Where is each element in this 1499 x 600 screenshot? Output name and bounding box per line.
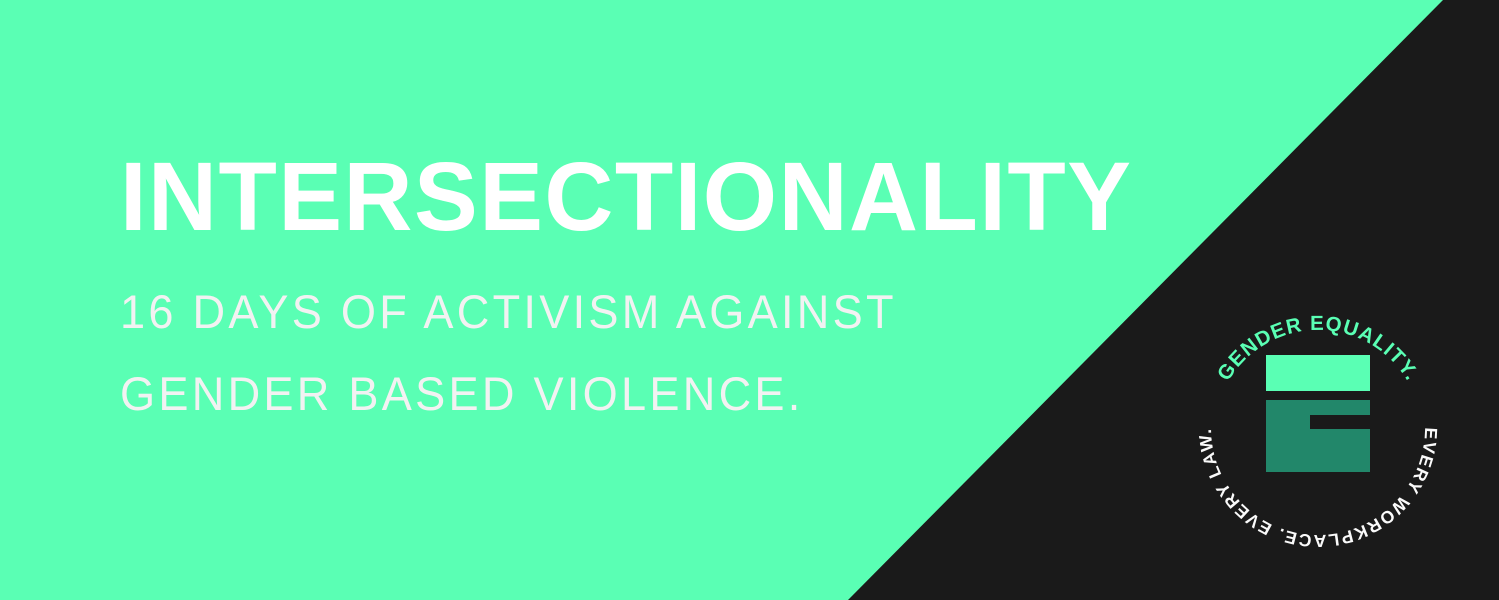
emblem-lower-block-icon: [1266, 400, 1370, 472]
banner-text-block: INTERSECTIONALITY 16 DAYS OF ACTIVISM AG…: [120, 148, 1180, 435]
subtitle-line-1: 16 DAYS OF ACTIVISM AGAINST: [120, 271, 1138, 353]
campaign-banner: INTERSECTIONALITY 16 DAYS OF ACTIVISM AG…: [0, 0, 1499, 600]
subtitle-line-2: GENDER BASED VIOLENCE.: [120, 353, 1138, 435]
subtitle-group: 16 DAYS OF ACTIVISM AGAINST GENDER BASED…: [120, 271, 1180, 435]
page-title: INTERSECTIONALITY: [120, 148, 1164, 245]
emblem-upper-bar-icon: [1266, 355, 1370, 391]
gender-equality-logo: GENDER EQUALITY. EVERY WORKPLACE. EVERY …: [1196, 308, 1440, 552]
